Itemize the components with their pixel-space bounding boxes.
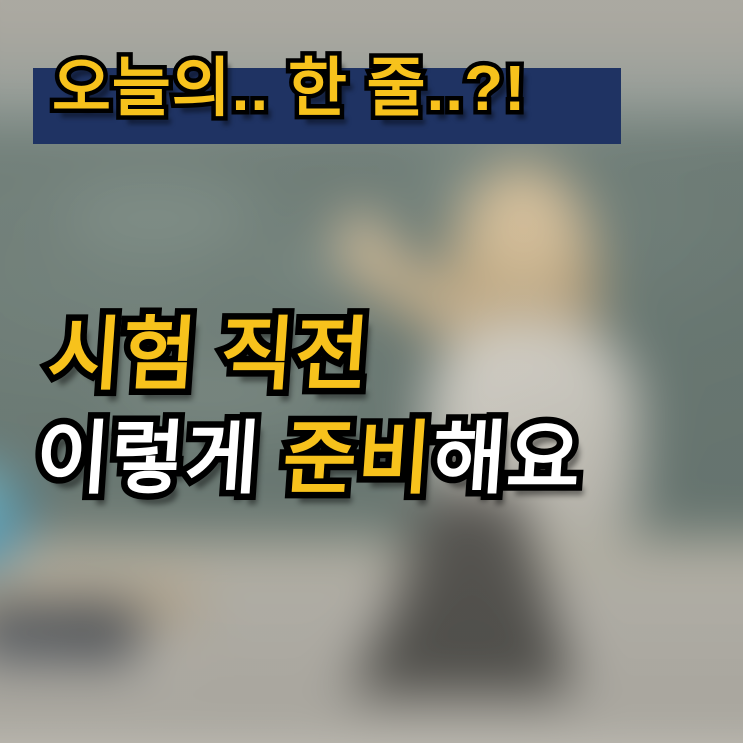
header-banner-label: 오늘의.. 한 줄..?!	[52, 56, 652, 120]
headline-line-2-part-2-highlight: 준비	[280, 414, 435, 503]
headline-line-2: 이렇게 준비해요	[33, 416, 711, 502]
headline-line-1: 시험 직전	[45, 312, 711, 398]
text-overlay: 오늘의.. 한 줄..?! 시험 직전 이렇게 준비해요	[0, 0, 743, 743]
headline-line-2-part-1: 이렇게	[33, 414, 286, 503]
study-tip-card: 오늘의.. 한 줄..?! 시험 직전 이렇게 준비해요	[0, 0, 743, 743]
headline-line-1-text: 시험 직전	[45, 310, 373, 399]
headline-block: 시험 직전 이렇게 준비해요	[48, 312, 708, 503]
headline-line-2-part-3: 해요	[429, 414, 584, 503]
